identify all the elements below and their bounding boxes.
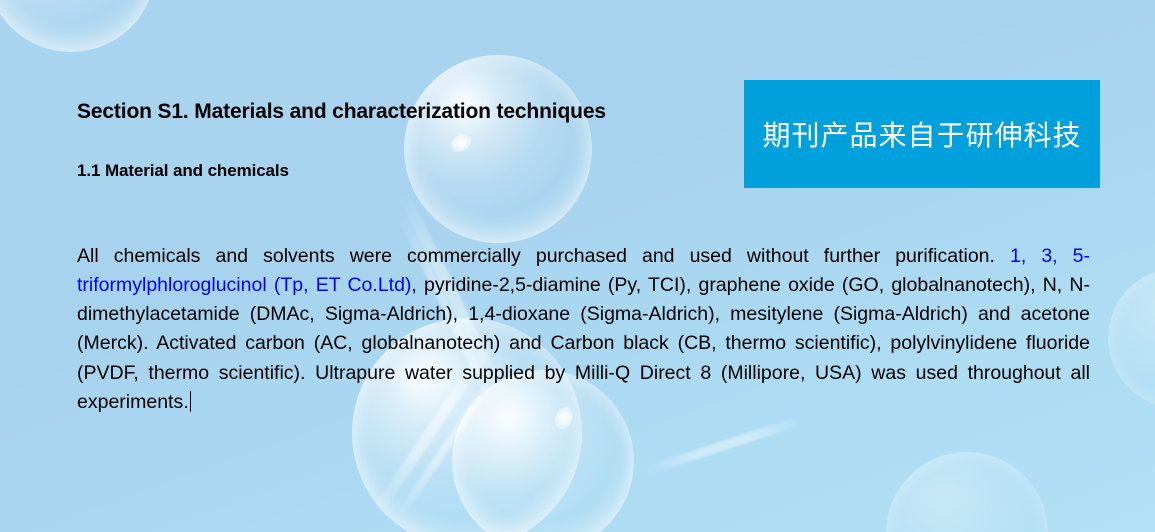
- watermark-label: 期刊产品来自于研伸科技: [762, 114, 1081, 154]
- watermark-banner: 期刊产品来自于研伸科技: [744, 80, 1100, 188]
- document-page: Section S1. Materials and characterizati…: [0, 0, 1155, 532]
- body-paragraph[interactable]: All chemicals and solvents were commerci…: [77, 242, 1090, 418]
- paragraph-text-part-1: All chemicals and solvents were commerci…: [77, 245, 1010, 267]
- subsection-heading: 1.1 Material and chemicals: [77, 161, 289, 181]
- text-cursor-caret: [190, 391, 191, 412]
- section-heading: Section S1. Materials and characterizati…: [77, 100, 606, 124]
